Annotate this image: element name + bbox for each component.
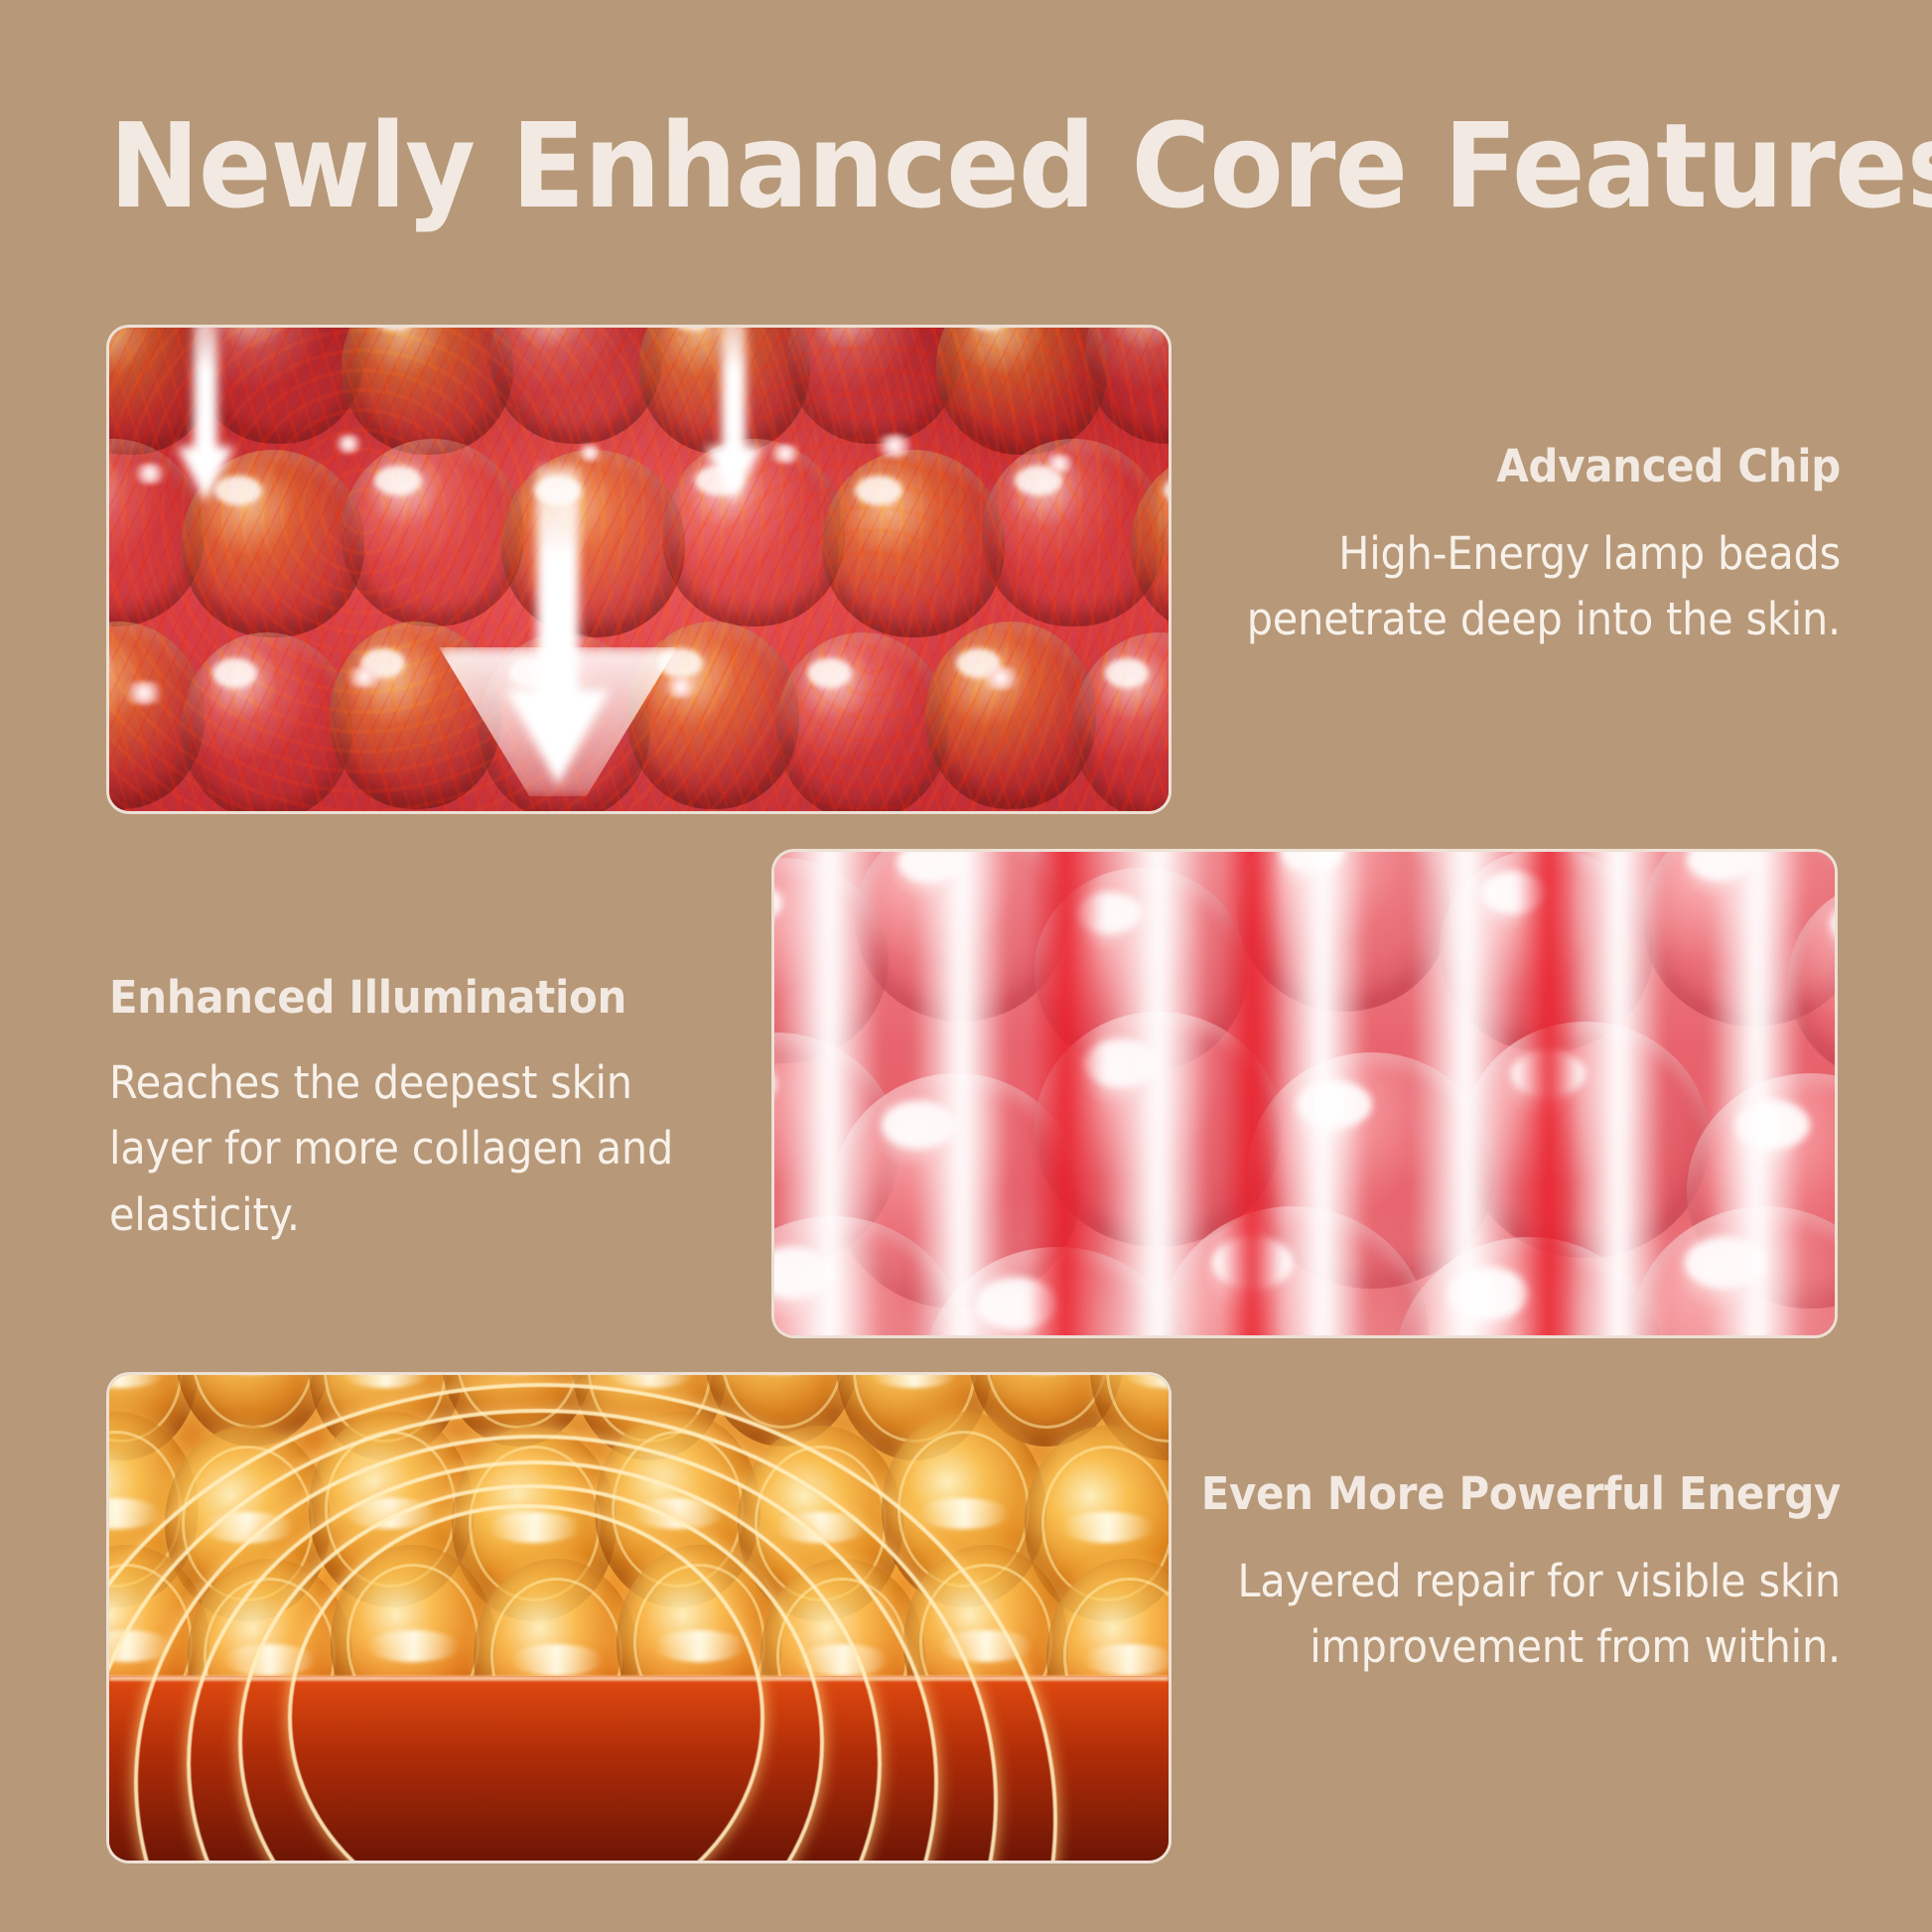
page-title: Newly Enhanced Core Features: [109, 107, 1717, 224]
down-arrow-icon-right: [705, 328, 762, 526]
feature-text-enhanced-illumination: Enhanced Illumination Reaches the deepes…: [109, 973, 764, 1248]
feature-heading-powerful-energy: Even More Powerful Energy: [1158, 1469, 1841, 1519]
feature-body-powerful-energy: Layered repair for visible skin improvem…: [1165, 1549, 1841, 1681]
down-arrow-icon-center: [486, 467, 629, 811]
feature-image-advanced-chip: [109, 328, 1169, 811]
feature-heading-advanced-chip: Advanced Chip: [1175, 442, 1841, 491]
feature-heading-enhanced-illumination: Enhanced Illumination: [109, 973, 719, 1023]
feature-image-enhanced-illumination: [774, 852, 1835, 1335]
down-arrow-icon-left: [177, 328, 234, 526]
feature-image-powerful-energy: [109, 1375, 1169, 1861]
vertical-light-beams: [774, 852, 1835, 1335]
feature-text-powerful-energy: Even More Powerful Energy Layered repair…: [1106, 1469, 1841, 1681]
feature-body-advanced-chip: High-Energy lamp beads penetrate deep in…: [1183, 521, 1841, 653]
feature-body-enhanced-illumination: Reaches the deepest skin layer for more …: [109, 1050, 712, 1249]
feature-text-advanced-chip: Advanced Chip High-Energy lamp beads pen…: [1126, 442, 1841, 653]
infographic-canvas: Newly Enhanced Core Features: [0, 0, 1932, 1932]
bead-highlight-dots: [109, 328, 1169, 811]
